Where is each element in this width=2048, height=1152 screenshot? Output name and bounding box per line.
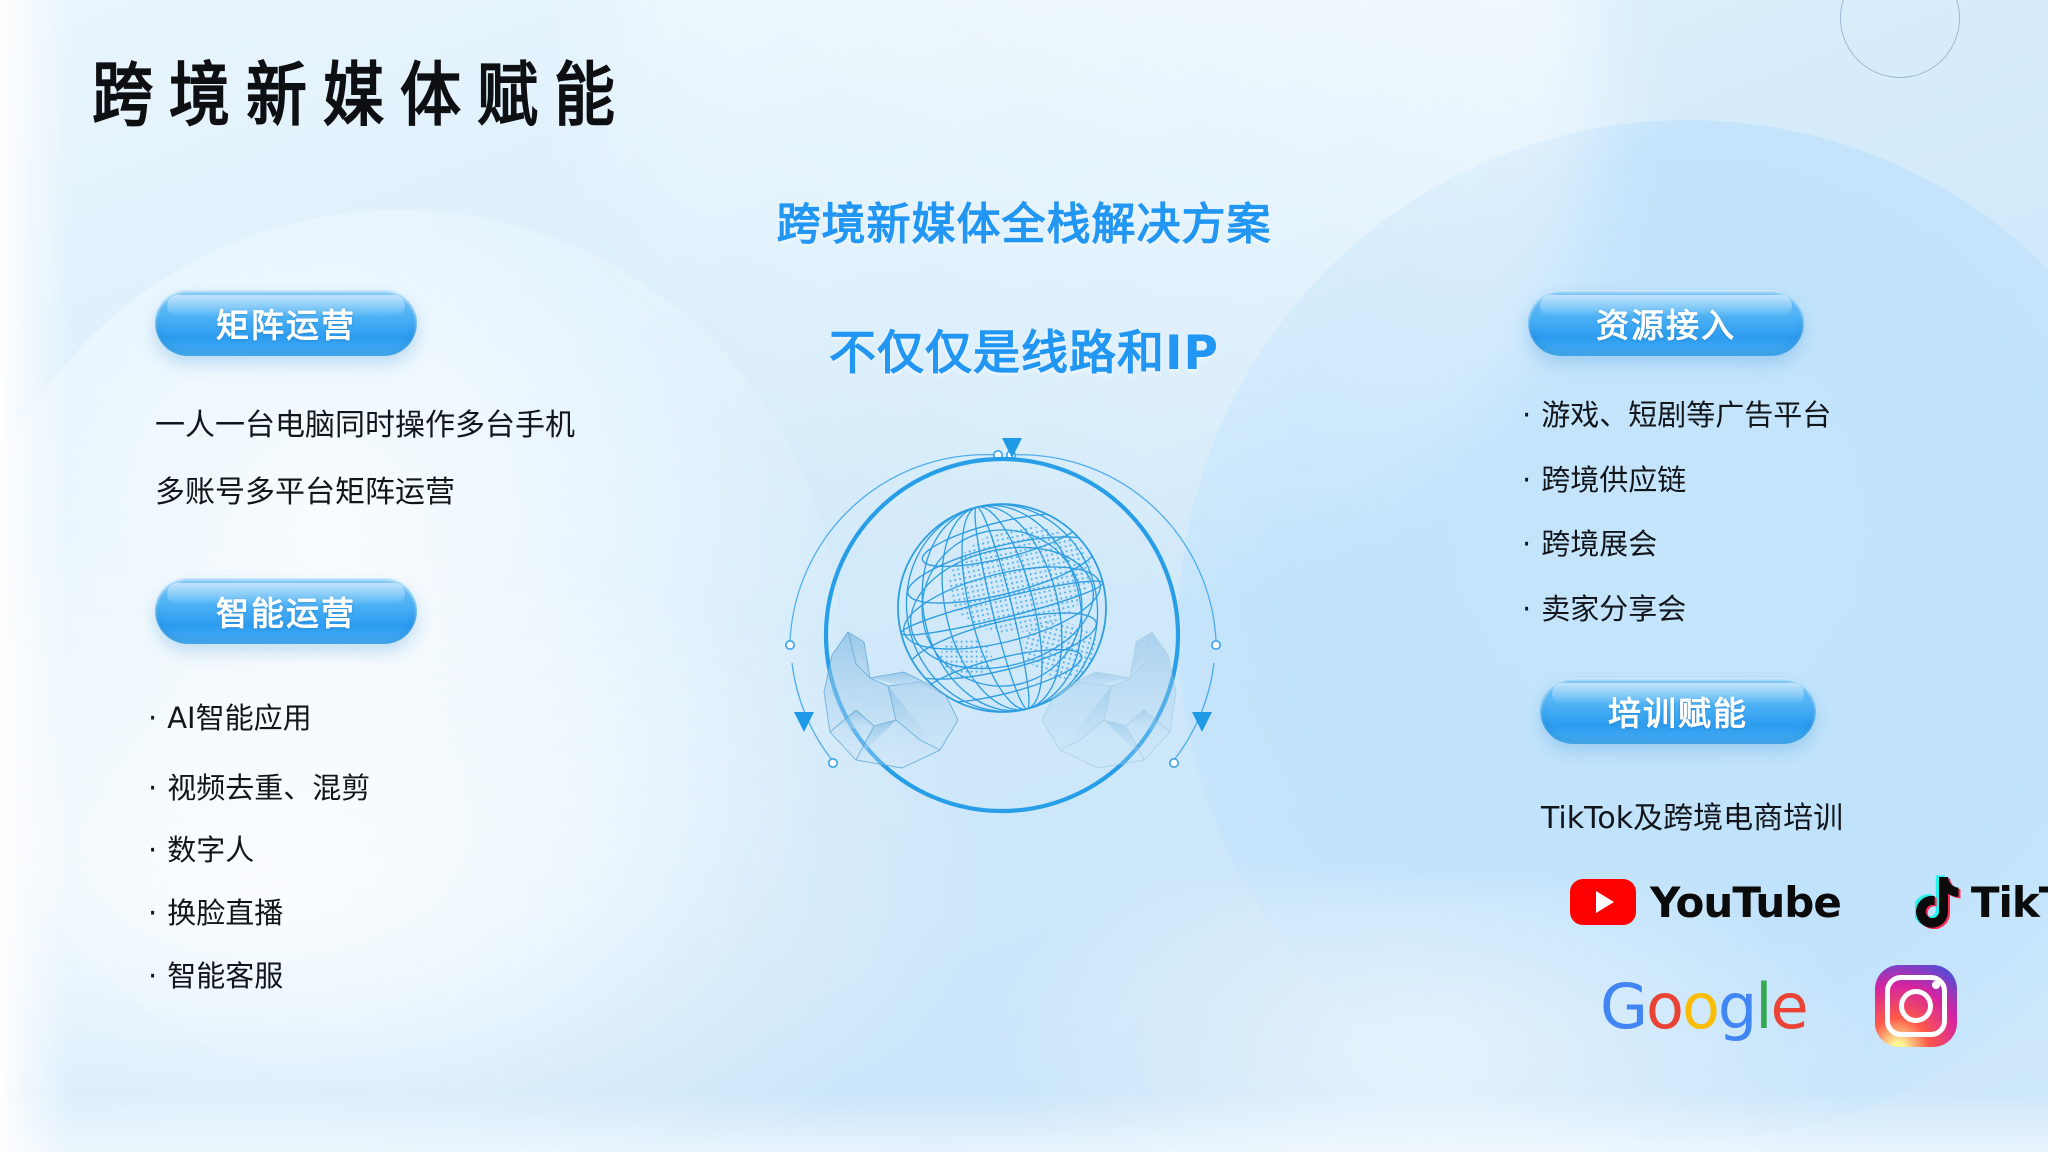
bullet-marker-icon: · [148, 701, 157, 735]
slide-canvas: 跨境新媒体赋能 跨境新媒体全栈解决方案 不仅仅是线路和IP 矩阵运营 一人一台电… [0, 0, 2048, 1152]
bullet-marker-icon: · [148, 896, 157, 930]
right-training-line: TikTok及跨境电商培训 [1541, 793, 1843, 837]
tiktok-note-icon [1915, 875, 1963, 929]
left-bullet-1: ·AI智能应用 [148, 695, 312, 737]
globe-illustration [770, 420, 1230, 850]
edge-fade-bottom [0, 1092, 2048, 1152]
google-logo[interactable]: Google [1600, 970, 1807, 1043]
bullet-marker-icon: · [148, 771, 157, 805]
bullet-marker-icon: · [148, 833, 157, 867]
instagram-dot-icon [1932, 981, 1940, 989]
left-bullet-2-label: 视频去重、混剪 [167, 771, 370, 805]
left-bullet-3: ·数字人 [148, 827, 254, 869]
google-letter-g: g [1718, 970, 1755, 1043]
left-bullet-4: ·换脸直播 [148, 890, 283, 932]
right-bullet-3: ·跨境展会 [1522, 521, 1657, 563]
left-bullet-5-label: 智能客服 [167, 959, 283, 993]
logo-row-bottom: Google [1600, 965, 1957, 1047]
left-bullet-5: ·智能客服 [148, 953, 283, 995]
instagram-logo[interactable] [1875, 965, 1957, 1047]
decorative-ring-icon [1840, 0, 1960, 78]
google-letter-l: l [1755, 970, 1770, 1043]
right-bullet-4-label: 卖家分享会 [1541, 592, 1686, 626]
google-letter-e: e [1771, 970, 1807, 1043]
edge-fade-left [0, 0, 70, 1152]
left-line-2: 多账号多平台矩阵运营 [155, 467, 455, 511]
right-bullet-2: ·跨境供应链 [1522, 457, 1686, 499]
page-title: 跨境新媒体赋能 [92, 38, 631, 139]
center-heading-primary: 跨境新媒体全栈解决方案 [0, 188, 2048, 252]
bullet-marker-icon: · [1522, 592, 1531, 626]
tiktok-logo-label: TikTok [1971, 878, 2048, 927]
youtube-logo-label: YouTube [1650, 878, 1841, 927]
bullet-marker-icon: · [1522, 527, 1531, 561]
right-bullet-4: ·卖家分享会 [1522, 586, 1686, 628]
youtube-logo[interactable]: YouTube [1570, 878, 1841, 927]
logo-row-top: YouTube TikTok [1570, 875, 2048, 929]
left-bullet-2: ·视频去重、混剪 [148, 765, 370, 807]
bullet-marker-icon: · [1522, 398, 1531, 432]
google-letter-G: G [1600, 970, 1646, 1043]
pill-resource-access[interactable]: 资源接入 [1528, 290, 1804, 356]
bullet-marker-icon: · [1522, 463, 1531, 497]
right-bullet-1-label: 游戏、短剧等广告平台 [1541, 398, 1831, 432]
left-line-1: 一人一台电脑同时操作多台手机 [155, 400, 575, 444]
globe-illustration-svg [770, 420, 1230, 850]
pill-matrix-operations[interactable]: 矩阵运营 [155, 290, 417, 356]
left-bullet-3-label: 数字人 [167, 833, 254, 867]
right-bullet-1: ·游戏、短剧等广告平台 [1522, 392, 1831, 434]
bullet-marker-icon: · [148, 959, 157, 993]
left-bullet-1-label: AI智能应用 [167, 701, 311, 735]
google-letter-o2: o [1682, 970, 1718, 1043]
right-bullet-2-label: 跨境供应链 [1541, 463, 1686, 497]
google-letter-o1: o [1646, 970, 1682, 1043]
left-bullet-4-label: 换脸直播 [167, 896, 283, 930]
tiktok-logo[interactable]: TikTok [1915, 875, 2048, 929]
youtube-play-icon [1570, 879, 1636, 925]
pill-training-empowerment[interactable]: 培训赋能 [1540, 678, 1816, 744]
right-bullet-3-label: 跨境展会 [1541, 527, 1657, 561]
pill-smart-operations[interactable]: 智能运营 [155, 578, 417, 644]
